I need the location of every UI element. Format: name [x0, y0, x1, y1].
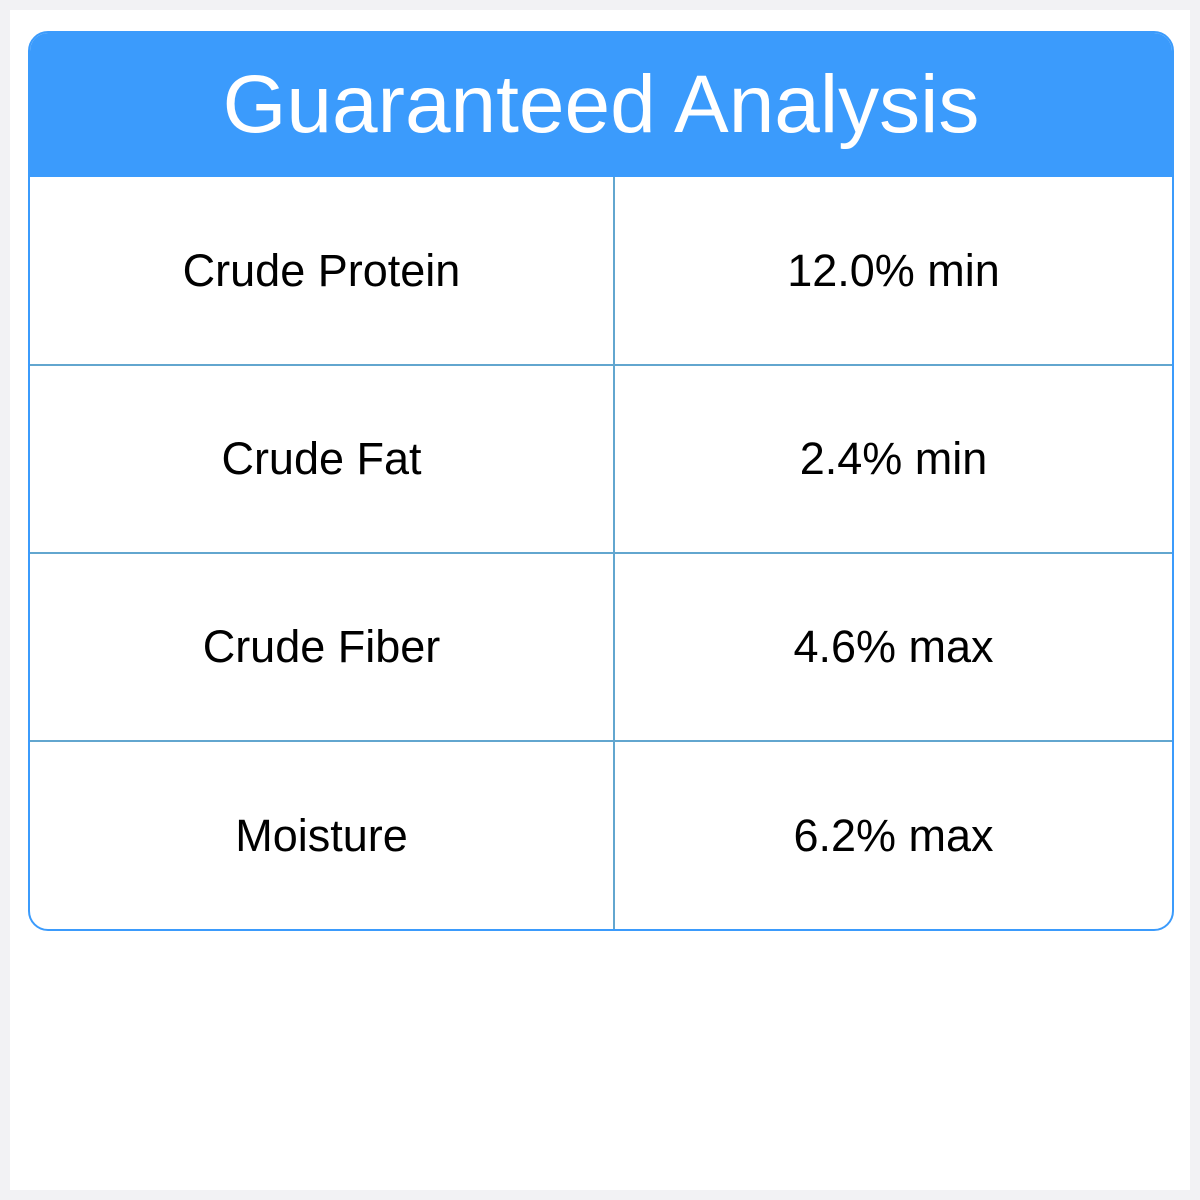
- nutrient-value-crude-fiber: 4.6% max: [614, 553, 1172, 741]
- table-row: Crude Protein 12.0% min: [30, 177, 1172, 365]
- nutrient-value-crude-fat: 2.4% min: [614, 365, 1172, 553]
- nutrient-value-moisture: 6.2% max: [614, 741, 1172, 929]
- page-surface: Guaranteed Analysis Crude Protein 12.0% …: [10, 10, 1190, 1190]
- nutrient-label-crude-fiber: Crude Fiber: [30, 553, 614, 741]
- table-body: Crude Protein 12.0% min Crude Fat 2.4% m…: [30, 177, 1172, 929]
- card-header: Guaranteed Analysis: [30, 33, 1172, 177]
- page-title: Guaranteed Analysis: [223, 64, 980, 146]
- table-row: Moisture 6.2% max: [30, 741, 1172, 929]
- nutrient-label-crude-protein: Crude Protein: [30, 177, 614, 365]
- guaranteed-analysis-card: Guaranteed Analysis Crude Protein 12.0% …: [28, 31, 1174, 931]
- nutrient-label-moisture: Moisture: [30, 741, 614, 929]
- table-row: Crude Fiber 4.6% max: [30, 553, 1172, 741]
- nutrient-label-crude-fat: Crude Fat: [30, 365, 614, 553]
- nutrient-value-crude-protein: 12.0% min: [614, 177, 1172, 365]
- table-row: Crude Fat 2.4% min: [30, 365, 1172, 553]
- guaranteed-analysis-table: Crude Protein 12.0% min Crude Fat 2.4% m…: [30, 177, 1172, 929]
